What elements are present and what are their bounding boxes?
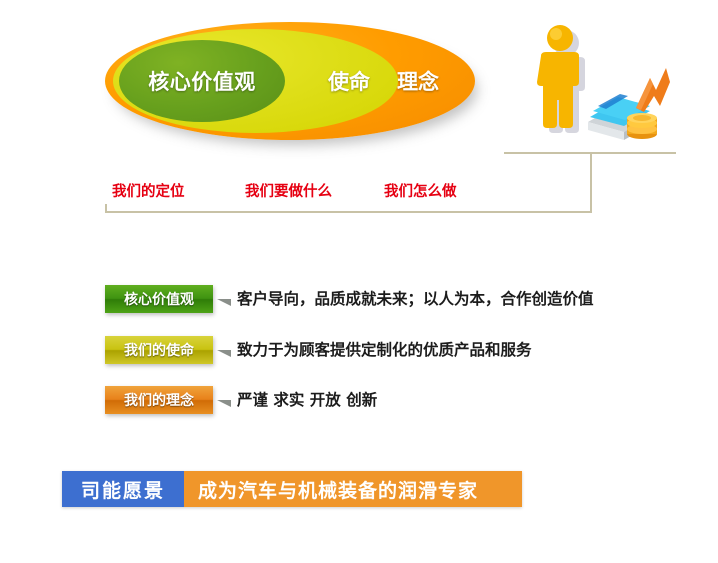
- venn-mid-label: 使命: [328, 66, 370, 96]
- bracket-right-riser: [590, 152, 592, 213]
- vision-banner-key: 司能愿景: [62, 471, 184, 507]
- row-text-core-values: 客户导向，品质成就未来；以人为本，合作创造价值: [237, 287, 594, 309]
- caption-what-we-do: 我们要做什么: [245, 180, 332, 201]
- bracket-horizontal-line: [105, 211, 592, 213]
- venn-inner-label: 核心价值观: [148, 66, 256, 96]
- bracket-left-tick: [105, 204, 107, 213]
- caption-how-we-do: 我们怎么做: [384, 180, 457, 201]
- stakeholder-illustration: 对利益相关者的承诺: [498, 22, 682, 154]
- venn-ellipse-inner: 核心价值观: [119, 40, 285, 122]
- arrow-marker-icon: [217, 299, 231, 306]
- vision-banner-value: 成为汽车与机械装备的润滑专家: [184, 471, 522, 507]
- person-with-money-icon: [498, 22, 682, 154]
- growth-arrow-icon: [636, 68, 670, 112]
- venn-outer-label: 理念: [397, 66, 439, 96]
- venn-diagram: 理念 使命 核心价值观: [105, 22, 475, 157]
- vision-banner: 司能愿景 成为汽车与机械装备的润滑专家: [62, 471, 522, 507]
- badge-philosophy: 我们的理念: [105, 386, 213, 414]
- arrow-marker-icon: [217, 400, 231, 407]
- coin-stack-icon: [627, 113, 657, 139]
- row-text-philosophy: 严谨 求实 开放 创新: [237, 388, 377, 410]
- badge-mission: 我们的使命: [105, 336, 213, 364]
- row-text-mission: 致力于为顾客提供定制化的优质产品和服务: [237, 338, 532, 360]
- badge-core-values: 核心价值观: [105, 285, 213, 313]
- arrow-marker-icon: [217, 350, 231, 357]
- caption-positioning: 我们的定位: [112, 180, 185, 201]
- caption-row: 我们的定位 我们要做什么 我们怎么做: [112, 180, 512, 202]
